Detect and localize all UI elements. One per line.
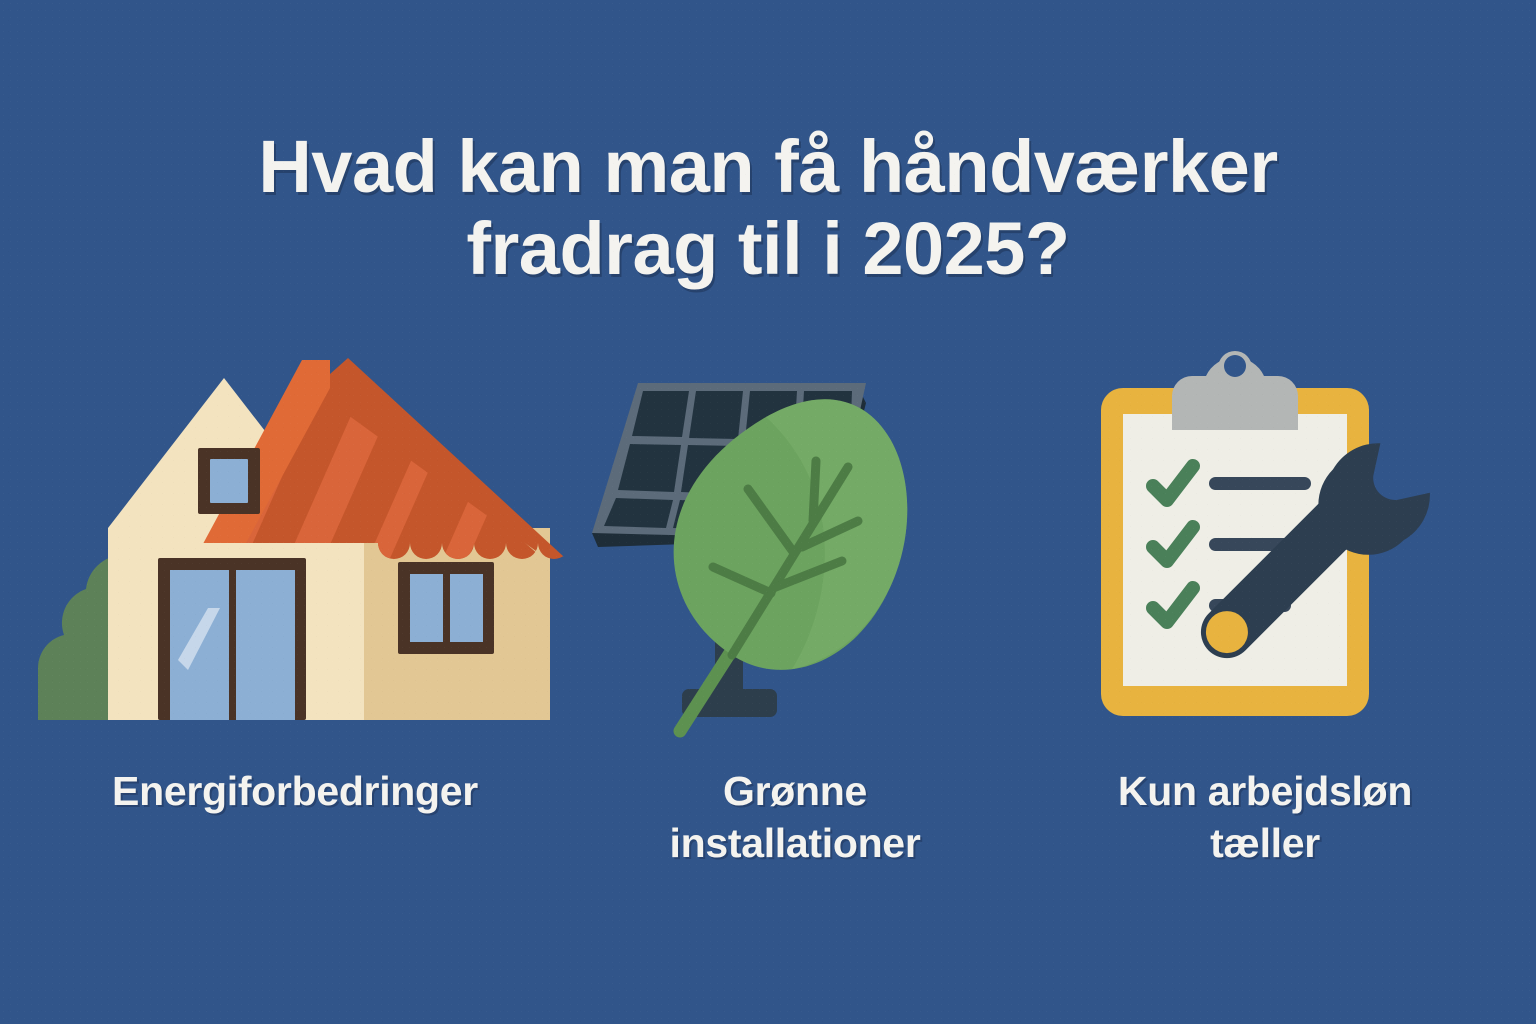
caption-line-2: installationer [575, 817, 1015, 869]
clip-hole [1224, 355, 1246, 377]
caption-line-2: tæller [1025, 817, 1505, 869]
page-title-line-2: fradrag til i 2025? [0, 208, 1536, 291]
house-icon [30, 340, 590, 740]
checklist-line [1209, 477, 1311, 490]
caption-line-1: Kun arbejdsløn [1025, 765, 1505, 817]
page-title-line-1: Hvad kan man få håndværker [0, 126, 1536, 209]
infographic-canvas: Hvad kan man få håndværker fradrag til i… [0, 0, 1536, 1024]
caption-line-1: Grønne [575, 765, 1015, 817]
caption-energiforbedringer: Energiforbedringer [20, 765, 570, 817]
caption-kun-arbejdsloen-taeller: Kun arbejdsløn tæller [1025, 765, 1505, 869]
house-side-window [398, 562, 494, 654]
clipboard-clip [1172, 351, 1298, 430]
caption-groenne-installationer: Grønne installationer [575, 765, 1015, 869]
house-attic-window [198, 448, 260, 514]
clipboard-wrench-icon [1075, 340, 1495, 740]
caption-line-1: Energiforbedringer [20, 765, 570, 817]
house-front-door [158, 558, 306, 720]
page-title: Hvad kan man få håndværker fradrag til i… [0, 126, 1536, 292]
solar-panel-leaf-icon [580, 355, 1030, 740]
